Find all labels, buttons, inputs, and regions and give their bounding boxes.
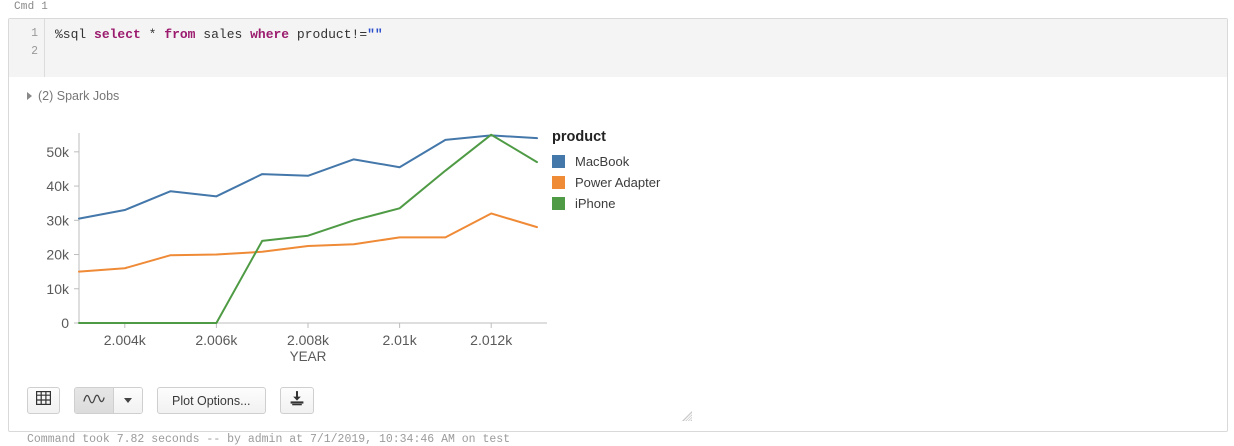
line-chart-icon <box>83 392 105 410</box>
legend-label: Power Adapter <box>575 175 660 190</box>
resize-grip-icon[interactable] <box>681 409 693 421</box>
notebook-cell: 1 2 %sql select * from sales where produ… <box>8 18 1228 432</box>
x-axis-tick-label: 2.01k <box>382 332 417 348</box>
line-number-2: 2 <box>31 45 38 58</box>
code-token: %sql <box>55 27 94 42</box>
triangle-right-icon <box>27 92 32 100</box>
y-axis-tick-label: 50k <box>46 144 70 160</box>
y-axis-tick-label: 30k <box>46 212 70 228</box>
legend-swatch-icon <box>552 155 565 168</box>
download-button[interactable] <box>280 387 314 414</box>
y-axis-tick-label: 10k <box>46 281 70 297</box>
chart-type-split-button <box>74 387 143 414</box>
table-view-button[interactable] <box>27 387 60 414</box>
code-token: from <box>164 27 195 42</box>
x-axis-tick-label: 2.012k <box>470 332 513 348</box>
x-axis-title: YEAR <box>290 349 327 364</box>
chart-type-dropdown-button[interactable] <box>113 388 142 413</box>
plot-options-button[interactable]: Plot Options... <box>157 387 266 414</box>
legend-swatch-icon <box>552 197 565 210</box>
legend-item-macbook[interactable]: MacBook <box>552 154 660 169</box>
cmd-label: Cmd 1 <box>14 1 48 13</box>
code-token <box>141 27 149 42</box>
code-editor[interactable]: 1 2 %sql select * from sales where produ… <box>9 19 1227 77</box>
chart-container: 010k20k30k40k50k2.004k2.006k2.008k2.01k2… <box>17 117 717 367</box>
x-axis-tick-label: 2.004k <box>104 332 147 348</box>
series-line-iphone <box>79 135 537 323</box>
code-token: sales <box>195 27 250 42</box>
plot-options-label: Plot Options... <box>166 394 257 408</box>
table-grid-icon <box>36 391 51 410</box>
y-axis-tick-label: 40k <box>46 178 70 194</box>
legend-title: product <box>552 129 660 145</box>
legend-swatch-icon <box>552 176 565 189</box>
code-token: where <box>250 27 289 42</box>
legend-label: iPhone <box>575 196 615 211</box>
y-axis-tick-label: 0 <box>61 315 69 331</box>
legend-label: MacBook <box>575 154 629 169</box>
x-axis-tick-label: 2.008k <box>287 332 330 348</box>
download-icon <box>289 391 305 411</box>
code-token: "" <box>367 27 383 42</box>
chevron-down-icon <box>124 398 132 403</box>
chart-toolbar: Plot Options... <box>27 387 314 414</box>
code-line-1[interactable]: %sql select * from sales where product!=… <box>55 26 383 44</box>
spark-jobs-label: (2) Spark Jobs <box>38 89 119 103</box>
editor-gutter: 1 2 <box>9 19 45 77</box>
execution-status: Command took 7.82 seconds -- by admin at… <box>27 433 510 446</box>
series-line-power-adapter <box>79 213 537 271</box>
chart-view-button[interactable] <box>75 388 113 413</box>
series-line-macbook <box>79 135 537 218</box>
legend-item-iphone[interactable]: iPhone <box>552 196 660 211</box>
spark-jobs-toggle[interactable]: (2) Spark Jobs <box>27 89 119 103</box>
x-axis-tick-label: 2.006k <box>195 332 238 348</box>
y-axis-tick-label: 20k <box>46 247 70 263</box>
code-token: select <box>94 27 141 42</box>
legend-item-power-adapter[interactable]: Power Adapter <box>552 175 660 190</box>
code-token: product!= <box>289 27 367 42</box>
chart-legend: product MacBook Power Adapter iPhone <box>552 129 660 217</box>
line-number-1: 1 <box>31 27 38 40</box>
